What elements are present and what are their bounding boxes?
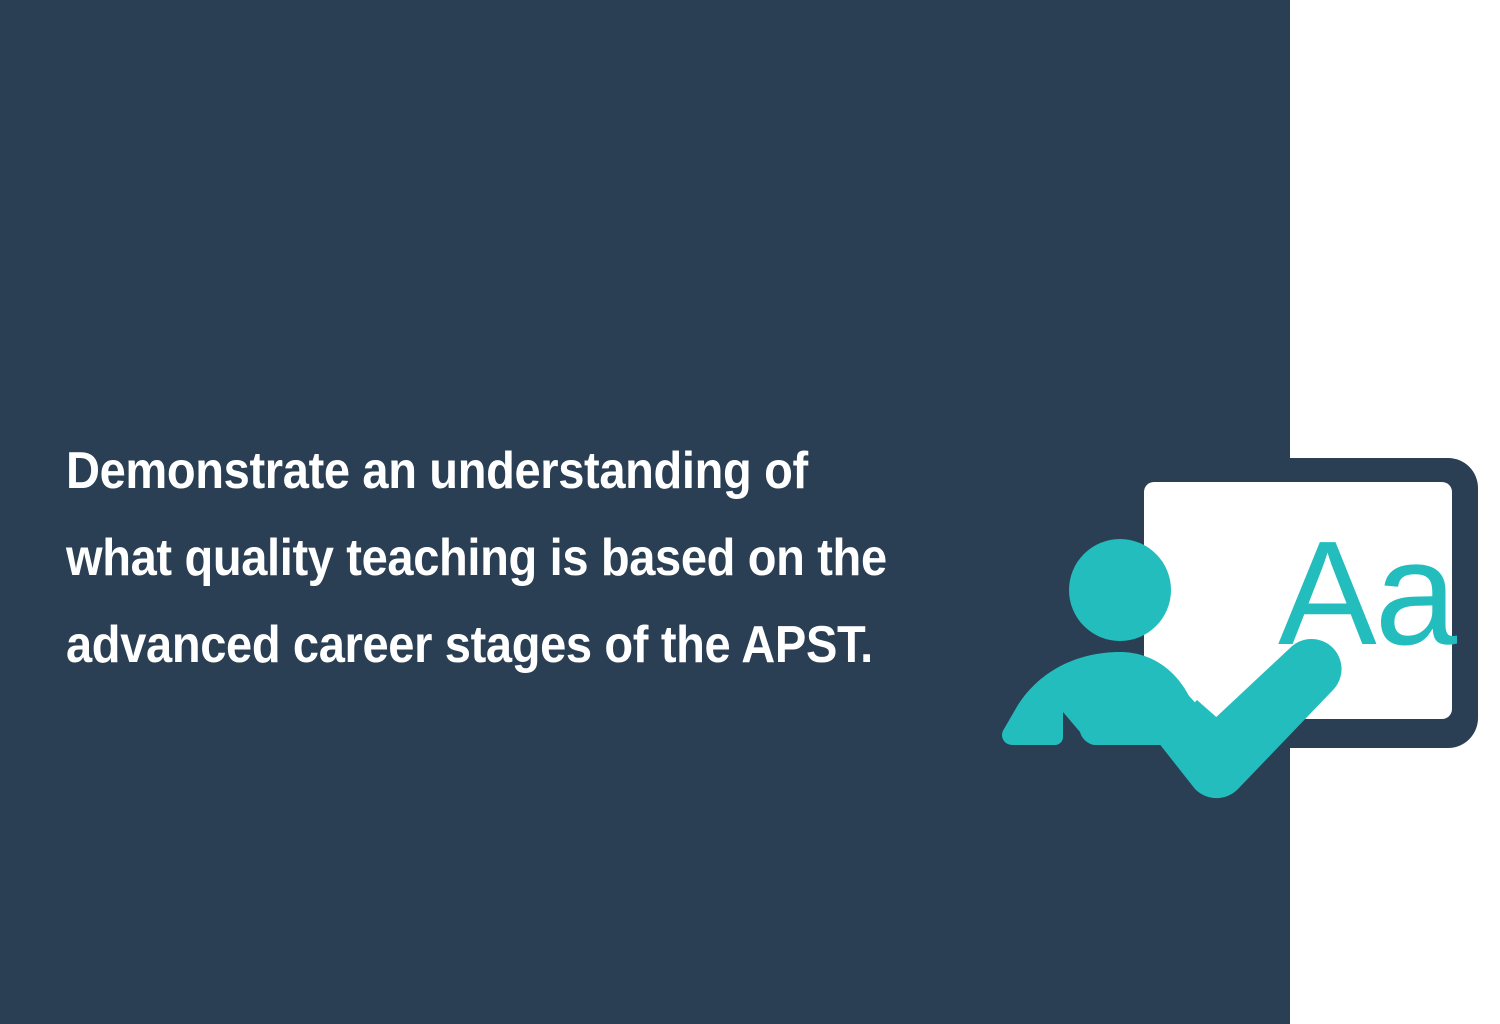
board-letters-aa: Aa bbox=[1278, 511, 1458, 676]
headline-text: Demonstrate an understanding of what qua… bbox=[66, 428, 935, 689]
slide-canvas: Demonstrate an understanding of what qua… bbox=[0, 0, 1500, 1024]
